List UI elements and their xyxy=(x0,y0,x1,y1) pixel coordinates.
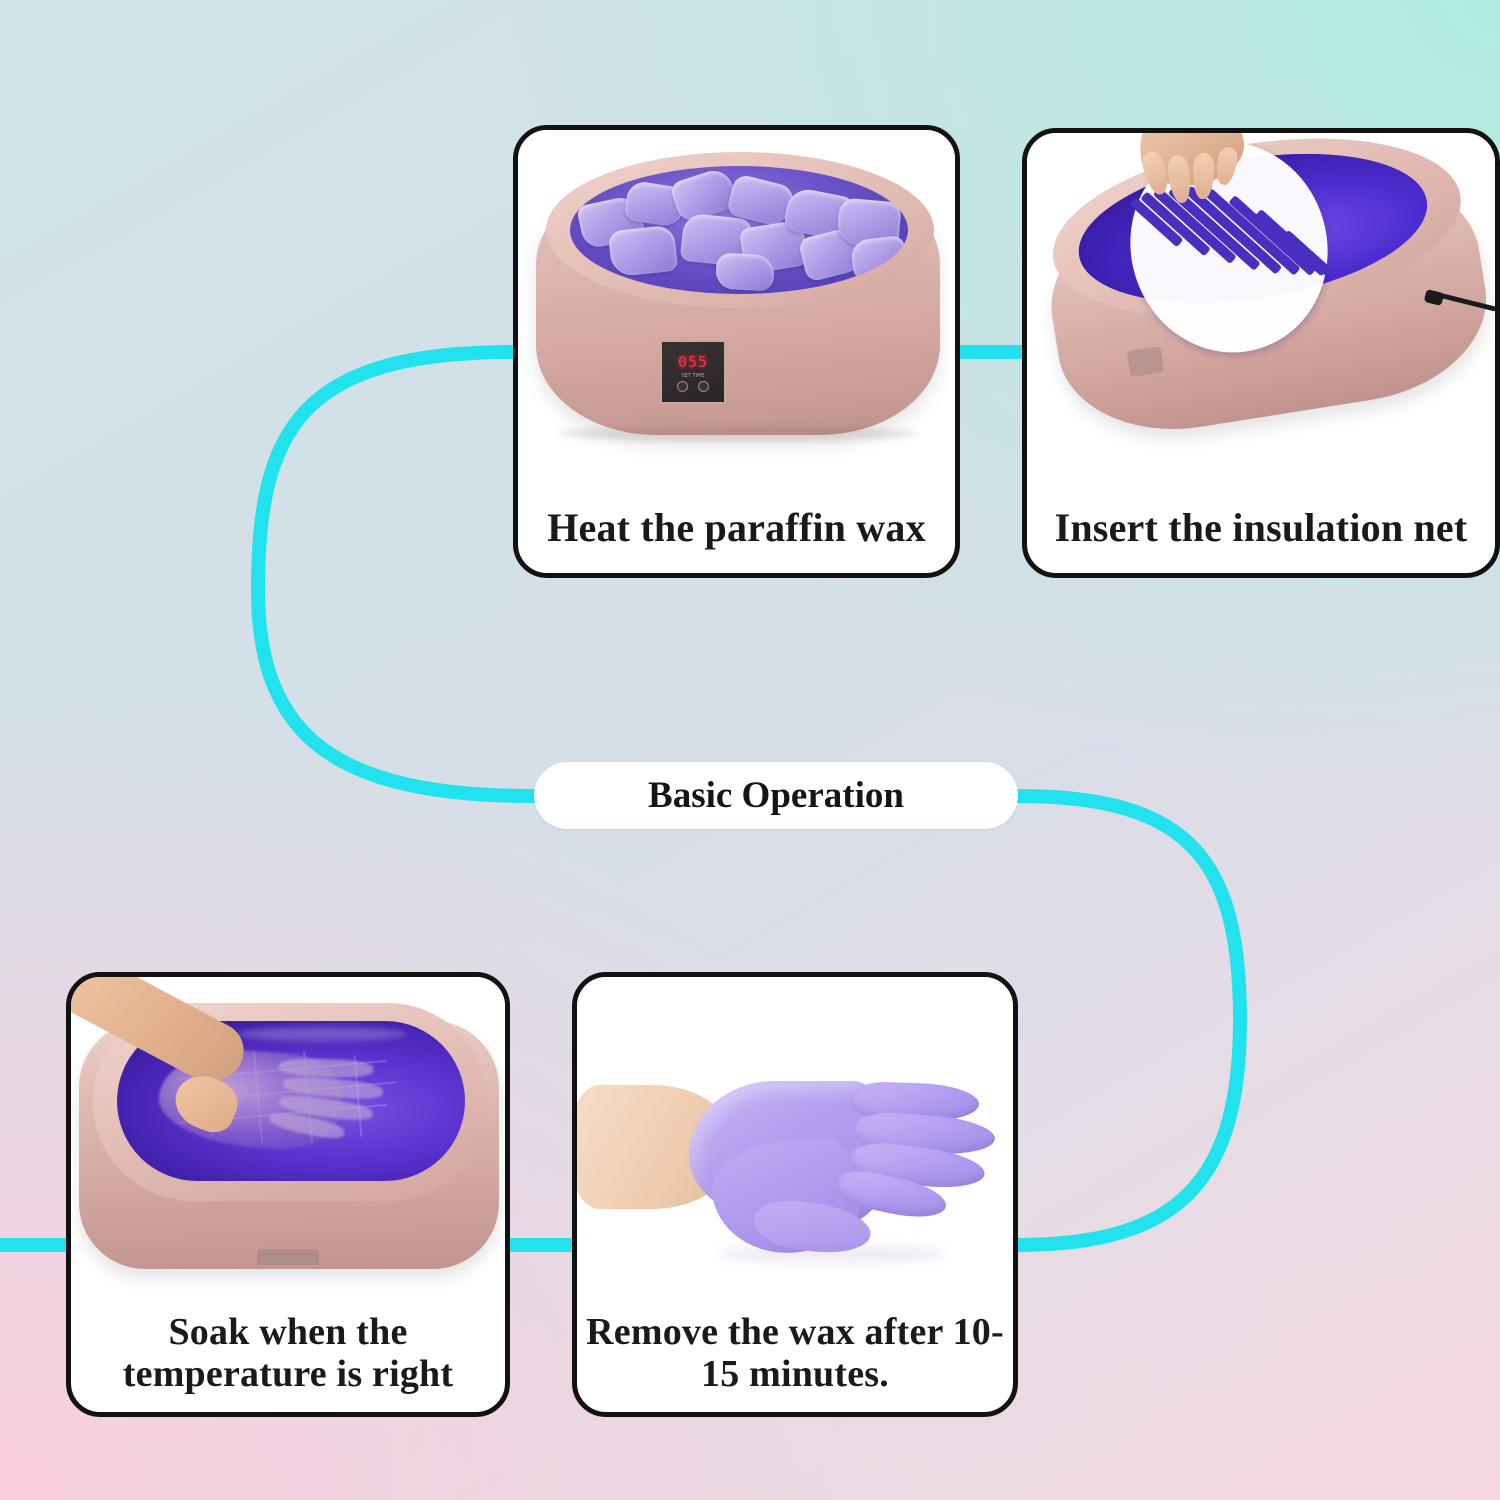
settings-button-icon[interactable] xyxy=(698,381,709,392)
section-title-pill: Basic Operation xyxy=(534,762,1018,829)
temperature-readout: 055 xyxy=(678,353,708,371)
wax-block xyxy=(715,253,775,292)
control-button-row[interactable] xyxy=(677,381,709,392)
step-caption-insert: Insert the insulation net xyxy=(1027,506,1495,573)
step-card-remove-wax[interactable]: Remove the wax after 10-15 minutes. xyxy=(572,972,1018,1417)
power-button-icon[interactable] xyxy=(677,381,688,392)
display-sub-label: SET TIME xyxy=(682,373,705,379)
wax-block xyxy=(608,225,678,278)
photo-paraffin-warmer-with-wax-blocks: 055 SET TIME xyxy=(518,130,955,506)
device-shadow xyxy=(558,426,918,442)
step-caption-soak: Soak when the temperature is right xyxy=(71,1311,505,1412)
base-indicator xyxy=(257,1249,319,1265)
photo-hand-soaking-in-wax xyxy=(71,977,505,1311)
hand-shadow xyxy=(717,1245,947,1263)
step-card-heat-wax[interactable]: 055 SET TIME Heat the paraffin wax xyxy=(513,125,960,578)
step-card-soak-hand[interactable]: Soak when the temperature is right xyxy=(66,972,510,1417)
page-title: Basic Operation xyxy=(648,774,904,817)
warmer-inner-well xyxy=(570,166,908,294)
photo-inserting-insulation-net xyxy=(1027,133,1495,506)
step-card-insert-net[interactable]: Insert the insulation net xyxy=(1022,128,1500,578)
connector-arc-right xyxy=(1018,796,1240,1245)
photo-waxed-hand xyxy=(577,977,1013,1311)
step-caption-remove: Remove the wax after 10-15 minutes. xyxy=(577,1311,1013,1412)
infographic-canvas: 055 SET TIME Heat the paraffin wax xyxy=(0,0,1500,1500)
wax-surface-sheen xyxy=(237,1027,407,1041)
connector-arc-left xyxy=(258,352,534,796)
control-display-panel[interactable]: 055 SET TIME xyxy=(660,340,726,404)
step-caption-heat: Heat the paraffin wax xyxy=(518,506,955,573)
